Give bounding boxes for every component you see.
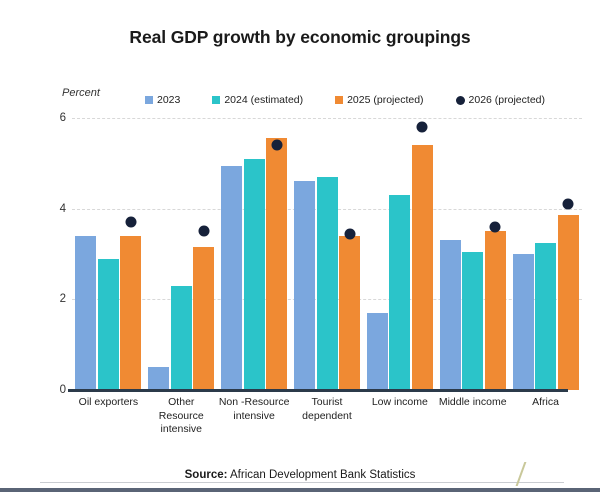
legend-item-2026[interactable]: 2026 (projected) — [456, 94, 545, 106]
bar-2023-5[interactable] — [440, 240, 461, 390]
legend-label-2023: 2023 — [157, 94, 180, 106]
bar-2023-4[interactable] — [367, 313, 388, 390]
y-axis-tick-label: 2 — [50, 293, 66, 305]
legend-marker-2026 — [456, 96, 465, 105]
bar-2024-2[interactable] — [244, 159, 265, 390]
bar-2025-5[interactable] — [485, 231, 506, 390]
x-axis-tick-label-line: dependent — [284, 410, 370, 424]
y-axis-tick-label: 6 — [50, 112, 66, 124]
x-axis-line — [68, 389, 568, 392]
legend-item-2025[interactable]: 2025 (projected) — [335, 94, 423, 106]
bar-2023-1[interactable] — [148, 367, 169, 390]
bar-2024-6[interactable] — [535, 243, 556, 390]
bar-2024-4[interactable] — [389, 195, 410, 390]
plot-area — [72, 118, 582, 390]
legend-label-2024: 2024 (estimated) — [224, 94, 303, 106]
legend-swatch-2025 — [335, 96, 343, 104]
bar-2023-6[interactable] — [513, 254, 534, 390]
marker-2026-2[interactable] — [271, 140, 282, 151]
legend-item-2023[interactable]: 2023 — [145, 94, 180, 106]
bar-2025-2[interactable] — [266, 138, 287, 390]
bar-2025-4[interactable] — [412, 145, 433, 390]
gridline — [72, 118, 582, 119]
bar-2025-1[interactable] — [193, 247, 214, 390]
legend-swatch-2024 — [212, 96, 220, 104]
y-axis-tick-label: 4 — [50, 203, 66, 215]
x-axis-tick-label-line: intensive — [138, 423, 224, 437]
bar-2023-3[interactable] — [294, 181, 315, 390]
x-axis-tick-label-6: Africa — [503, 396, 589, 410]
bar-2023-2[interactable] — [221, 166, 242, 390]
marker-2026-1[interactable] — [198, 226, 209, 237]
chart-legend: 2023 2024 (estimated) 2025 (projected) 2… — [145, 92, 545, 108]
bar-2023-0[interactable] — [75, 236, 96, 390]
marker-2026-3[interactable] — [344, 228, 355, 239]
x-axis-tick-label-line: Africa — [503, 396, 589, 410]
bar-2024-0[interactable] — [98, 259, 119, 390]
bar-2024-3[interactable] — [317, 177, 338, 390]
bar-2024-5[interactable] — [462, 252, 483, 390]
y-axis-title: Percent — [62, 87, 100, 99]
y-axis-tick-label: 0 — [50, 384, 66, 396]
bar-2025-3[interactable] — [339, 236, 360, 390]
bar-2024-1[interactable] — [171, 286, 192, 390]
legend-swatch-2023 — [145, 96, 153, 104]
bottom-strip — [0, 488, 600, 492]
legend-label-2025: 2025 (projected) — [347, 94, 423, 106]
footer-divider — [40, 482, 564, 483]
marker-2026-5[interactable] — [490, 221, 501, 232]
source-label: Source: — [185, 469, 228, 481]
bar-2025-0[interactable] — [120, 236, 141, 390]
marker-2026-6[interactable] — [563, 199, 574, 210]
marker-2026-4[interactable] — [417, 122, 428, 133]
chart-title: Real GDP growth by economic groupings — [0, 27, 600, 48]
marker-2026-0[interactable] — [125, 217, 136, 228]
chart-card: Real GDP growth by economic groupings Pe… — [0, 0, 600, 492]
source-note: Source: African Development Bank Statist… — [0, 469, 600, 481]
bar-2025-6[interactable] — [558, 215, 579, 390]
corner-artifact — [512, 462, 530, 486]
legend-label-2026: 2026 (projected) — [469, 94, 545, 106]
source-text: African Development Bank Statistics — [227, 469, 415, 481]
legend-item-2024[interactable]: 2024 (estimated) — [212, 94, 303, 106]
